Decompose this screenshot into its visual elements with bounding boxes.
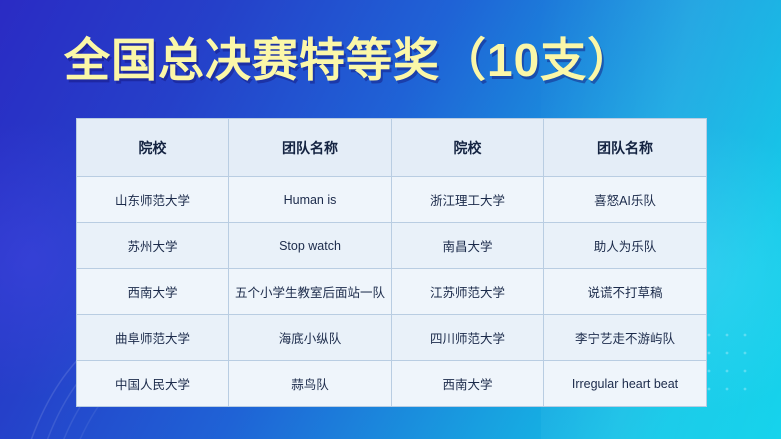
cell-team: 五个小学生教室后面站一队	[229, 269, 392, 315]
column-header-school-1: 院校	[77, 119, 229, 177]
column-header-team-1: 团队名称	[229, 119, 392, 177]
award-table-wrapper: 院校 团队名称 院校 团队名称 山东师范大学 Human is 浙江理工大学 喜…	[76, 118, 706, 407]
cell-team: 助人为乐队	[544, 223, 707, 269]
cell-school: 山东师范大学	[77, 177, 229, 223]
table-row: 山东师范大学 Human is 浙江理工大学 喜怒AI乐队	[77, 177, 707, 223]
table-header: 院校 团队名称 院校 团队名称	[77, 119, 707, 177]
cell-team: 李宁艺走不游屿队	[544, 315, 707, 361]
cell-school: 江苏师范大学	[392, 269, 544, 315]
cell-school: 西南大学	[77, 269, 229, 315]
cell-school: 南昌大学	[392, 223, 544, 269]
table-row: 苏州大学 Stop watch 南昌大学 助人为乐队	[77, 223, 707, 269]
table-row: 曲阜师范大学 海底小纵队 四川师范大学 李宁艺走不游屿队	[77, 315, 707, 361]
cell-team: 蒜鸟队	[229, 361, 392, 407]
cell-team: 喜怒AI乐队	[544, 177, 707, 223]
cell-school: 四川师范大学	[392, 315, 544, 361]
table-row: 中国人民大学 蒜鸟队 西南大学 Irregular heart beat	[77, 361, 707, 407]
cell-team: Human is	[229, 177, 392, 223]
slide-root: 全国总决赛特等奖（10支） 院校 团队名称 院校 团队名称 山东师范大学 Hum…	[0, 0, 781, 439]
cell-team: Stop watch	[229, 223, 392, 269]
cell-school: 曲阜师范大学	[77, 315, 229, 361]
table-body: 山东师范大学 Human is 浙江理工大学 喜怒AI乐队 苏州大学 Stop …	[77, 177, 707, 407]
page-title: 全国总决赛特等奖（10支）	[64, 24, 634, 90]
cell-team: 说谎不打草稿	[544, 269, 707, 315]
cell-school: 西南大学	[392, 361, 544, 407]
table-row: 西南大学 五个小学生教室后面站一队 江苏师范大学 说谎不打草稿	[77, 269, 707, 315]
column-header-school-2: 院校	[392, 119, 544, 177]
cell-school: 中国人民大学	[77, 361, 229, 407]
cell-team: 海底小纵队	[229, 315, 392, 361]
cell-team: Irregular heart beat	[544, 361, 707, 407]
award-table: 院校 团队名称 院校 团队名称 山东师范大学 Human is 浙江理工大学 喜…	[76, 118, 707, 407]
column-header-team-2: 团队名称	[544, 119, 707, 177]
cell-school: 苏州大学	[77, 223, 229, 269]
table-header-row: 院校 团队名称 院校 团队名称	[77, 119, 707, 177]
cell-school: 浙江理工大学	[392, 177, 544, 223]
